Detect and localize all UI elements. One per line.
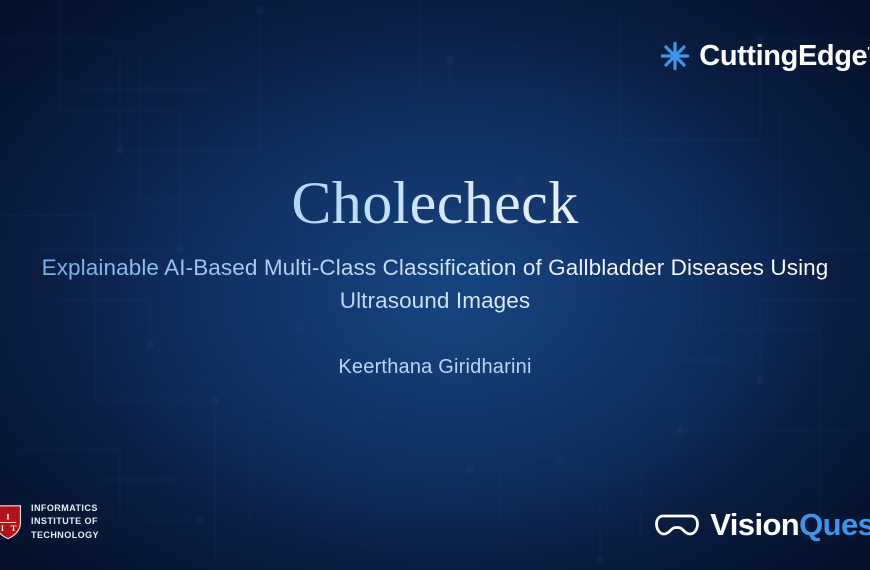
cuttingedge-logo: CuttingEdge'2: [660, 41, 870, 71]
visionquest-name-quest: Quest: [799, 507, 870, 542]
visionquest-name-vision: Vision: [710, 507, 799, 542]
iit-line-1: INFORMATICS: [31, 502, 99, 516]
cuttingedge-wordmark: CuttingEdge'2: [699, 42, 870, 71]
iit-line-3: TECHNOLOGY: [31, 529, 99, 543]
slide-text-block: Cholecheck Explainable AI-Based Multi-Cl…: [0, 172, 870, 379]
visionquest-logo: VisionQuest: [655, 509, 870, 540]
asterisk-spark-icon: [660, 41, 690, 71]
svg-text:I: I: [6, 511, 10, 521]
iit-wordmark: INFORMATICS INSTITUTE OF TECHNOLOGY: [31, 502, 99, 543]
visionquest-wordmark: VisionQuest: [710, 509, 870, 540]
slide-author: Keerthana Giridharini: [40, 356, 830, 379]
iit-shield-icon: I I T: [0, 504, 22, 540]
iit-line-2: INSTITUTE OF: [31, 515, 99, 529]
slide-subtitle: Explainable AI-Based Multi-Class Classif…: [40, 252, 830, 318]
svg-text:I: I: [1, 523, 5, 533]
svg-text:T: T: [11, 523, 17, 533]
iit-logo: I I T INFORMATICS INSTITUTE OF TECHNOLOG…: [0, 502, 99, 543]
slide-title: Cholecheck: [40, 172, 830, 234]
presentation-slide: CuttingEdge'2 Cholecheck Explainable AI-…: [0, 0, 870, 570]
cuttingedge-name-cutting: Cutting: [699, 40, 798, 72]
vr-headset-icon: [655, 511, 699, 539]
cuttingedge-name-edge: Edge: [798, 40, 867, 72]
